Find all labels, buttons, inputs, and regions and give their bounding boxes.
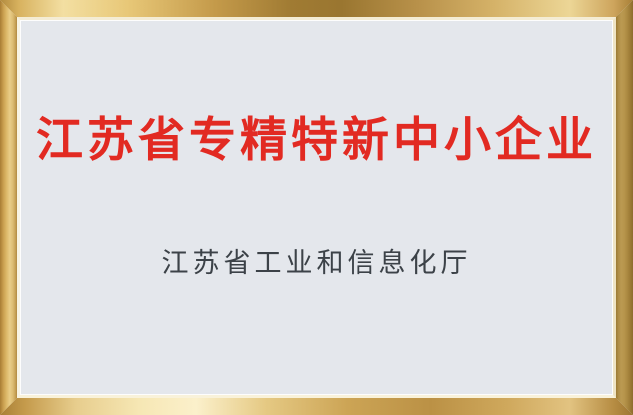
frame-band-left (0, 0, 17, 415)
plaque-inner-field: 江苏省专精特新中小企业 江苏省工业和信息化厅 (21, 21, 612, 394)
frame-band-top (0, 0, 633, 17)
award-plaque: 江苏省专精特新中小企业 江苏省工业和信息化厅 (0, 0, 633, 415)
frame-band-bottom (0, 398, 633, 415)
plaque-title: 江苏省专精特新中小企业 (21, 113, 612, 167)
frame-band-right (616, 0, 633, 415)
plaque-issuer: 江苏省工业和信息化厅 (21, 247, 612, 279)
